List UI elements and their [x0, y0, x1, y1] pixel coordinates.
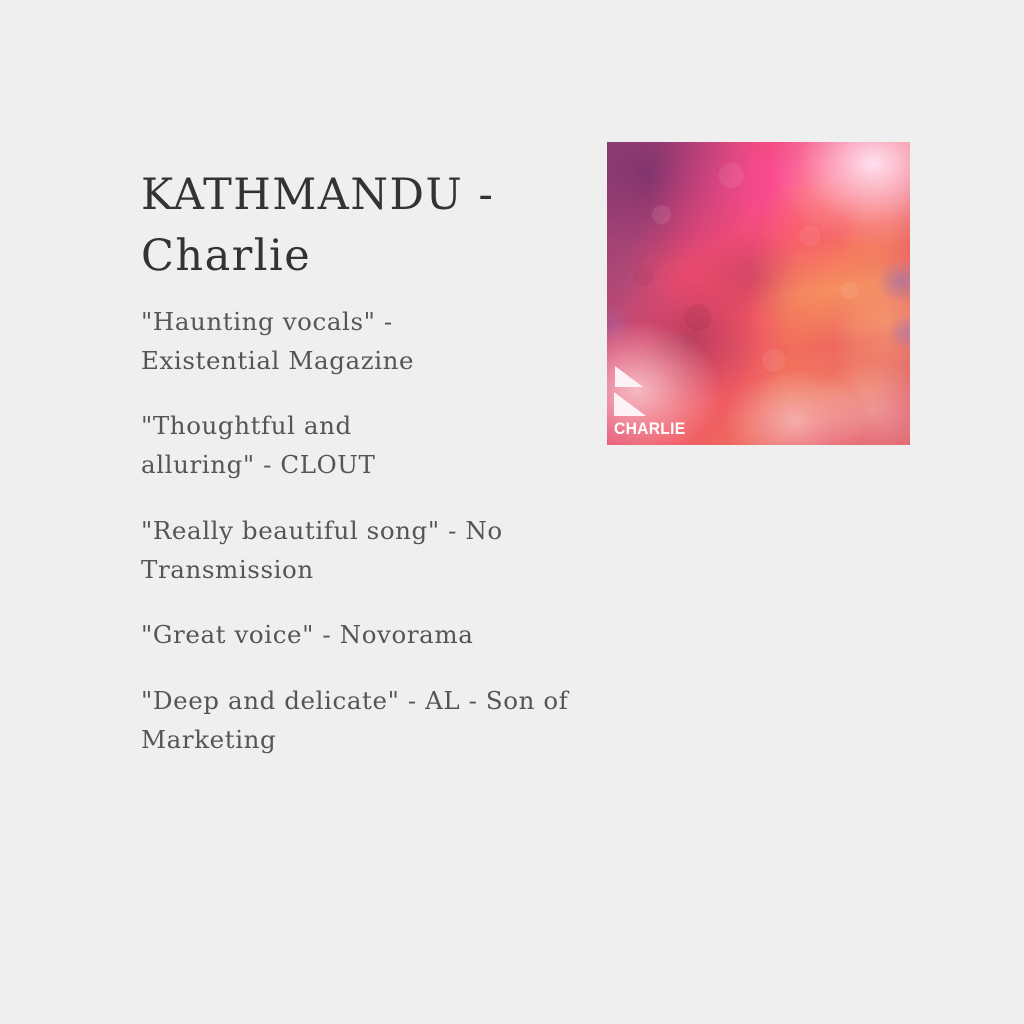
artist-wordmark: CHARLIE	[614, 420, 752, 437]
play-triangle-icon	[615, 366, 643, 387]
release-press-card: KATHMANDU - Charlie "Haunting vocals" - …	[0, 0, 1024, 1024]
artwork-logo: CHARLIE	[614, 366, 764, 439]
page-title: KATHMANDU - Charlie	[141, 165, 571, 287]
press-quote: "Deep and delicate" - AL - Son of Market…	[141, 682, 781, 759]
press-quote: "Really beautiful song" - No Transmissio…	[141, 512, 781, 589]
play-triangle-icon	[614, 392, 646, 416]
album-artwork: CHARLIE	[607, 142, 910, 445]
press-quote: "Great voice" - Novorama	[141, 616, 781, 655]
